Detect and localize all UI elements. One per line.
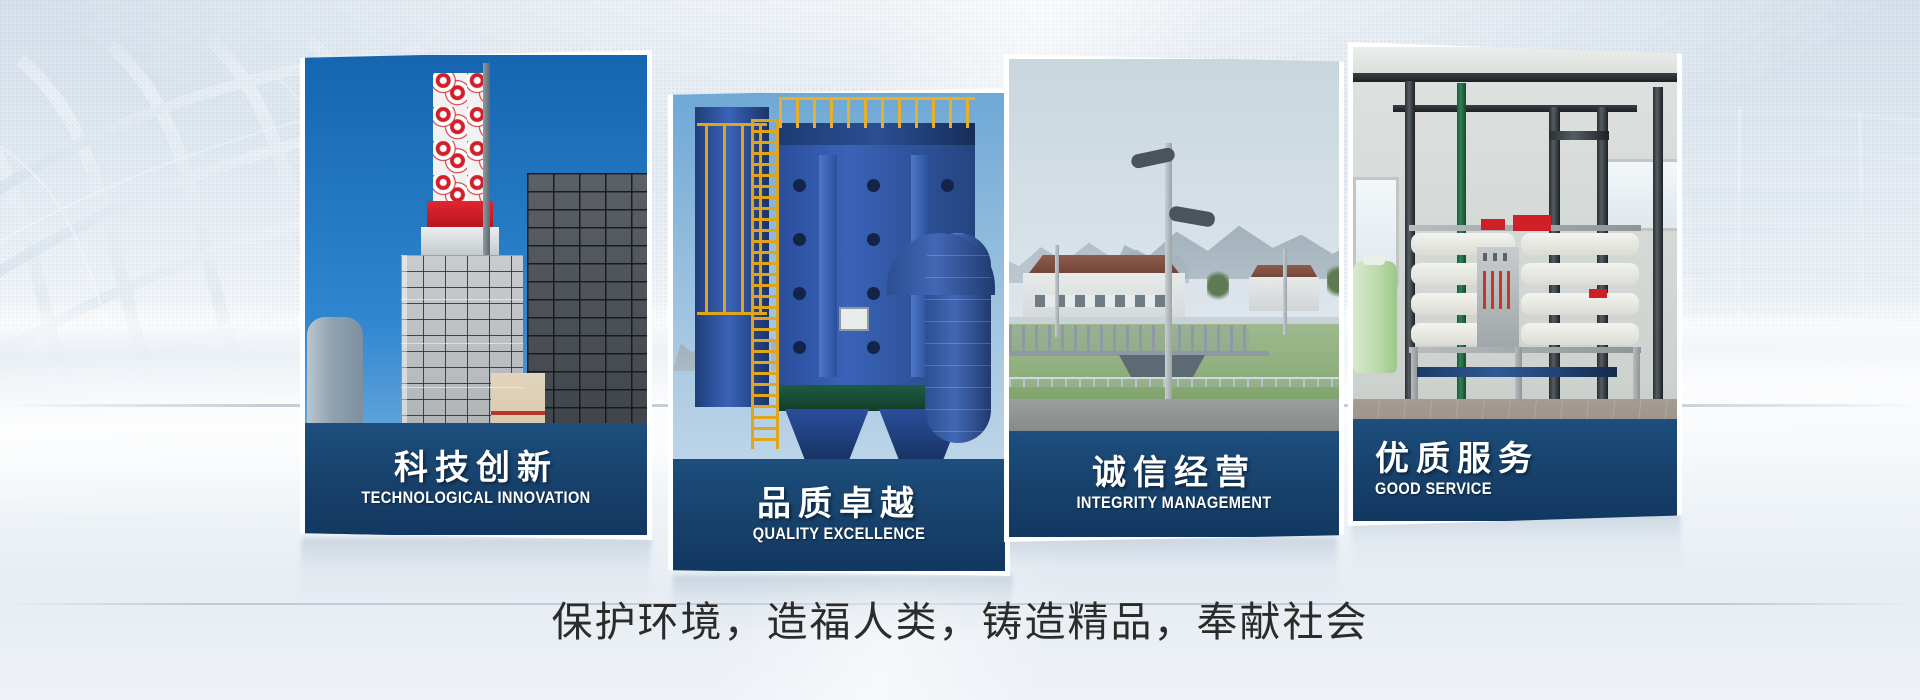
collector-bolt: [867, 233, 880, 246]
horizontal-pipe: [1549, 131, 1609, 140]
chimney-pattern: [433, 73, 487, 201]
vertical-pipe: [1549, 107, 1560, 407]
panel-indicators: [1483, 271, 1513, 309]
caption-title-cn: 品质卓越: [673, 485, 1005, 523]
tree: [1207, 271, 1229, 307]
tree: [1327, 265, 1339, 305]
ro-membrane-vessel: [1521, 323, 1639, 345]
collector-bolt: [793, 287, 806, 300]
caption-title-en: INTEGRITY MANAGEMENT: [1032, 494, 1316, 513]
lamp-post: [1283, 249, 1287, 335]
lamp-post: [1165, 143, 1172, 443]
ro-membrane-vessel: [1521, 233, 1639, 255]
card-quality-excellence[interactable]: 品质卓越 QUALITY EXCELLENCE: [668, 88, 1010, 576]
card-inner: 诚信经营 INTEGRITY MANAGEMENT: [1009, 59, 1339, 537]
warning-sign: [1481, 219, 1505, 230]
caption-title-cn: 科技创新: [305, 449, 647, 487]
vertical-pipe: [1597, 107, 1608, 407]
warning-sign: [1513, 215, 1551, 231]
collector-bolt: [793, 179, 806, 192]
card-inner: 品质卓越 QUALITY EXCELLENCE: [673, 93, 1005, 571]
collector-bolt: [941, 179, 954, 192]
card-integrity-management[interactable]: 诚信经营 INTEGRITY MANAGEMENT: [1004, 54, 1344, 542]
caption-integrity-management: 诚信经营 INTEGRITY MANAGEMENT: [1009, 431, 1339, 537]
caption-title-en: TECHNOLOGICAL INNOVATION: [329, 489, 623, 508]
tank-cap: [1363, 253, 1385, 265]
ro-membrane-vessel: [1521, 293, 1639, 315]
caption-good-service: 优质服务 GOOD SERVICE: [1353, 419, 1677, 521]
control-box: [839, 307, 869, 331]
warning-sign: [1589, 289, 1607, 298]
collector-bolt: [793, 341, 806, 354]
chemical-dosing-tank: [1353, 261, 1397, 373]
vertical-pipe: [1653, 87, 1663, 413]
scraper-arm: [1119, 355, 1205, 377]
ro-membrane-vessel: [1521, 263, 1639, 285]
top-railing: [779, 97, 975, 128]
card-inner: 科技创新 TECHNOLOGICAL INNOVATION: [305, 55, 647, 535]
collector-rib: [819, 155, 837, 377]
collector-bolt: [867, 341, 880, 354]
skid-frame: [1409, 347, 1641, 353]
banner-tagline: 保护环境，造福人类，铸造精品，奉献社会: [0, 588, 1920, 648]
chimney-mast: [483, 63, 490, 261]
lamp-post: [1055, 245, 1059, 337]
caption-title-cn: 诚信经营: [1009, 454, 1339, 492]
handrail: [1009, 377, 1339, 387]
plant-roof: [1019, 255, 1189, 275]
scraper-bridge: [1009, 325, 1249, 353]
caption-technological-innovation: 科技创新 TECHNOLOGICAL INNOVATION: [305, 423, 647, 535]
blue-manifold: [1417, 367, 1617, 377]
company-values-banner: 科技创新 TECHNOLOGICAL INNOVATION: [0, 0, 1920, 700]
collector-bolt: [793, 233, 806, 246]
card-technological-innovation[interactable]: 科技创新 TECHNOLOGICAL INNOVATION: [300, 50, 652, 540]
duct-seams: [925, 233, 991, 443]
caption-title-cn: 优质服务: [1375, 440, 1539, 478]
access-ladder: [751, 119, 779, 449]
caption-title-en: GOOD SERVICE: [1375, 480, 1492, 499]
ceiling-pipe: [1353, 73, 1677, 82]
card-good-service[interactable]: 优质服务 GOOD SERVICE: [1348, 42, 1682, 526]
collector-bolt: [867, 179, 880, 192]
caption-title-en: QUALITY EXCELLENCE: [696, 525, 982, 544]
panel-gauges: [1483, 253, 1513, 261]
card-inner: 优质服务 GOOD SERVICE: [1353, 47, 1677, 521]
collector-bolt: [867, 287, 880, 300]
window: [1603, 159, 1677, 231]
caption-quality-excellence: 品质卓越 QUALITY EXCELLENCE: [673, 459, 1005, 571]
